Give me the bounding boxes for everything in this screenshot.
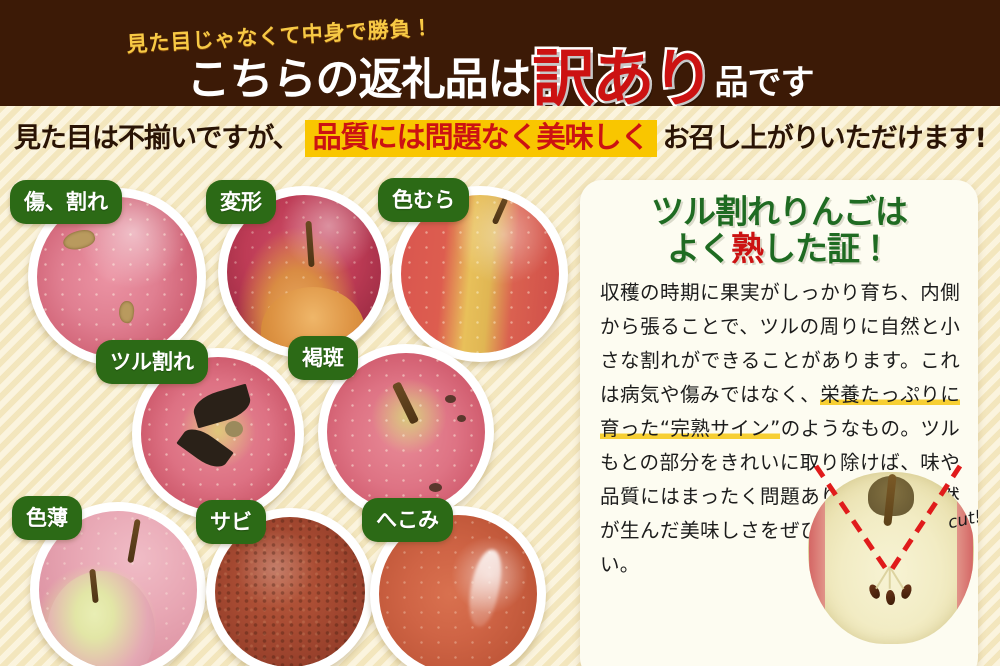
panel-title-line2-a: よく xyxy=(667,229,731,268)
cut-guide-lines xyxy=(808,472,974,644)
panel-body-highlight2: “完熟サイン” xyxy=(660,417,781,440)
subtitle-highlight: 品質には問題なく美味しく xyxy=(305,120,657,157)
badge-kizu-ware: 傷、割れ xyxy=(10,180,122,224)
panel-title-line2: よく熟した証！ xyxy=(580,231,978,268)
badge-iromura: 色むら xyxy=(378,178,469,222)
subtitle-line: 見た目は不揃いですが、品質には問題なく美味しくお召し上がりいただけます! xyxy=(0,120,1000,157)
subtitle-pre: 見た目は不揃いですが、 xyxy=(14,125,299,152)
header-title-emphasis: 訳あり xyxy=(532,48,712,106)
badge-kappan: 褐斑 xyxy=(288,336,358,380)
header-main-title: こちらの返礼品は訳あり品です xyxy=(0,42,1000,104)
infographic-page: 見た目じゃなくて中身で勝負！ こちらの返礼品は訳あり品です 見た目は不揃いですが… xyxy=(0,0,1000,666)
header-bar: 見た目じゃなくて中身で勝負！ こちらの返礼品は訳あり品です xyxy=(0,0,1000,106)
info-panel: ツル割れりんごは よく熟した証！ 収穫の時期に果実がしっかり育ち、内側から張るこ… xyxy=(580,180,978,666)
subtitle-post: お召し上がりいただけます! xyxy=(663,125,986,152)
badge-hekomi: へこみ xyxy=(362,498,453,542)
panel-title: ツル割れりんごは よく熟した証！ xyxy=(580,194,978,268)
header-title-post: 品です xyxy=(715,66,814,100)
badge-sabi: サビ xyxy=(196,500,266,544)
header-title-pre: こちらの返礼品は xyxy=(186,58,530,102)
panel-title-line2-accent: 熟 xyxy=(731,229,763,268)
cut-apple-illustration: cut! xyxy=(808,472,974,644)
panel-title-line2-c: した証！ xyxy=(763,229,891,268)
badge-henkei: 変形 xyxy=(206,180,276,224)
panel-title-line1: ツル割れりんごは xyxy=(580,194,978,231)
badge-irousu: 色薄 xyxy=(12,496,82,540)
badge-tsuruware: ツル割れ xyxy=(96,340,208,384)
